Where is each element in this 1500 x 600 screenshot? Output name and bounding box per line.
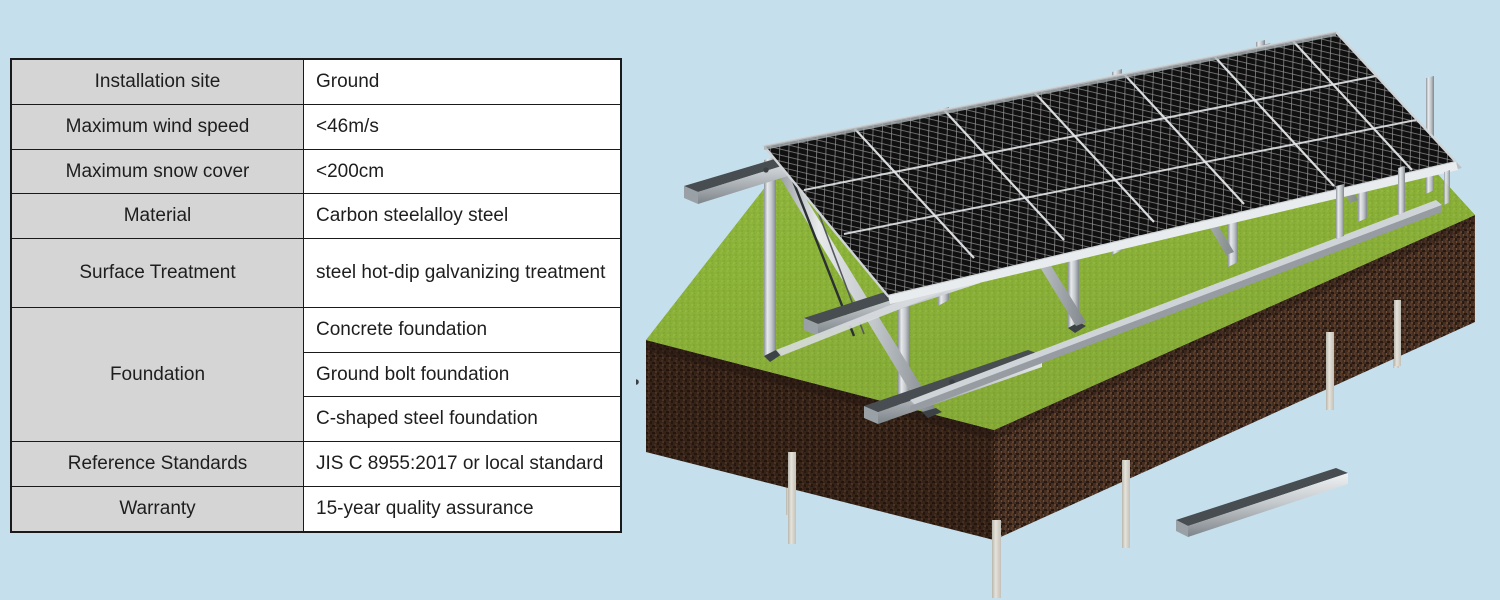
spec-value-warranty: 15-year quality assurance <box>304 486 622 531</box>
table-row: Material Carbon steelalloy steel <box>11 194 621 239</box>
specification-table: Installation site Ground Maximum wind sp… <box>10 58 622 533</box>
spec-label-warranty: Warranty <box>11 486 304 531</box>
spec-label-installation-site: Installation site <box>11 59 304 104</box>
spec-label-material: Material <box>11 194 304 239</box>
spec-value-foundation-ground-bolt: Ground bolt foundation <box>304 352 622 397</box>
table-body: Installation site Ground Maximum wind sp… <box>11 59 621 532</box>
page-root: Installation site Ground Maximum wind sp… <box>0 0 1500 600</box>
spec-value-installation-site: Ground <box>304 59 622 104</box>
table-row: Foundation Concrete foundation <box>11 307 621 352</box>
spec-value-maximum-wind-speed: <46m/s <box>304 104 622 149</box>
table-row: Warranty 15-year quality assurance <box>11 486 621 531</box>
spec-value-surface-treatment: steel hot-dip galvanizing treatment <box>304 239 622 308</box>
spec-value-reference-standards: JIS C 8955:2017 or local standard <box>304 442 622 487</box>
table-row: Maximum wind speed <46m/s <box>11 104 621 149</box>
table-row: Surface Treatment steel hot-dip galvaniz… <box>11 239 621 308</box>
table-row: Installation site Ground <box>11 59 621 104</box>
ground-mount-solar-array-illustration <box>636 0 1500 600</box>
spec-value-foundation-c-shaped-steel: C-shaped steel foundation <box>304 397 622 442</box>
spec-label-maximum-wind-speed: Maximum wind speed <box>11 104 304 149</box>
spec-label-surface-treatment: Surface Treatment <box>11 239 304 308</box>
spec-value-material: Carbon steelalloy steel <box>304 194 622 239</box>
spec-label-maximum-snow-cover: Maximum snow cover <box>11 149 304 194</box>
spec-label-foundation: Foundation <box>11 307 304 441</box>
spec-value-foundation-concrete: Concrete foundation <box>304 307 622 352</box>
spec-label-reference-standards: Reference Standards <box>11 442 304 487</box>
table-row: Reference Standards JIS C 8955:2017 or l… <box>11 442 621 487</box>
spec-value-maximum-snow-cover: <200cm <box>304 149 622 194</box>
table-row: Maximum snow cover <200cm <box>11 149 621 194</box>
